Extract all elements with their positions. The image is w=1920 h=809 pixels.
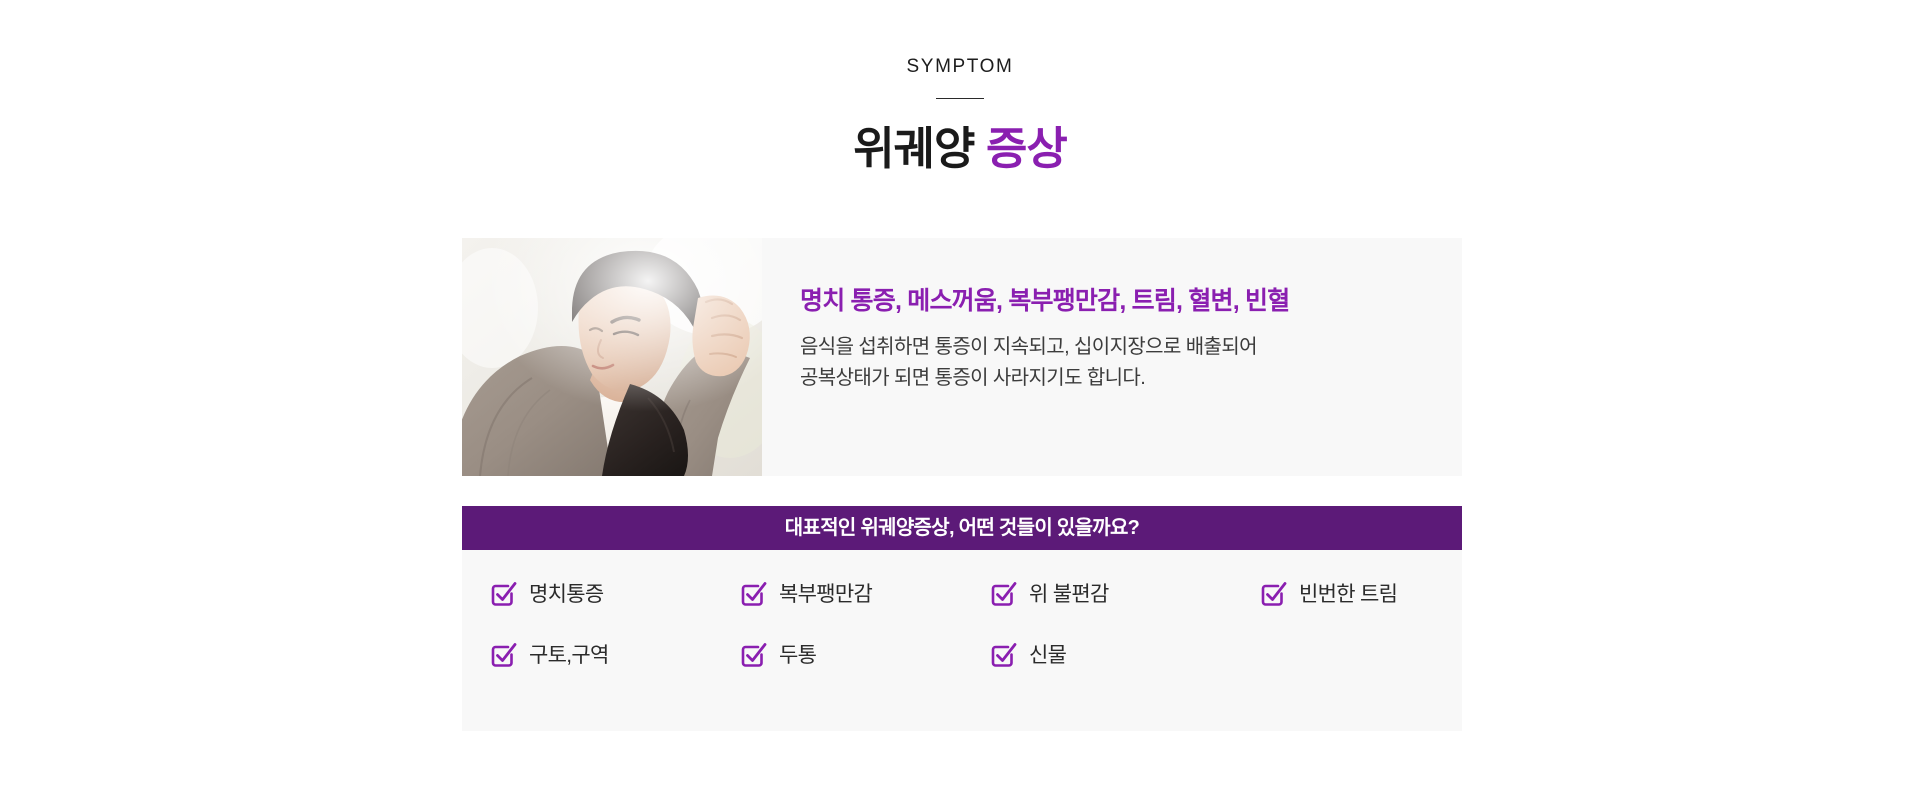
eyebrow-label: SYMPTOM bbox=[0, 54, 1920, 80]
checklist-item-label: 위 불편감 bbox=[1029, 580, 1109, 610]
checkbox-checked-icon bbox=[1258, 579, 1288, 609]
checklist-item[interactable]: 위 불편감 bbox=[988, 577, 1258, 613]
page-title-primary: 위궤양 bbox=[853, 123, 974, 174]
checklist-item[interactable]: 빈번한 트림 bbox=[1258, 577, 1488, 613]
symptom-headline: 명치 통증, 메스꺼움, 복부팽만감, 트림, 혈변, 빈혈 bbox=[800, 284, 1462, 318]
patient-photo-illustration bbox=[462, 238, 762, 476]
patient-photo bbox=[462, 238, 762, 476]
eyebrow-divider bbox=[936, 98, 984, 99]
checklist-item-label: 신물 bbox=[1029, 641, 1066, 671]
page-title-accent: 증상 bbox=[986, 123, 1067, 174]
checkbox-checked-icon bbox=[738, 640, 768, 670]
symptom-description: 음식을 섭취하면 통증이 지속되고, 십이지장으로 배출되어 공복상태가 되면 … bbox=[800, 332, 1462, 394]
checkbox-checked-icon bbox=[988, 640, 1018, 670]
symptom-page: SYMPTOM 위궤양 증상 bbox=[0, 0, 1920, 809]
checklist-grid: 명치통증 복부팽만감 위 불편감 bbox=[462, 577, 1462, 674]
symptom-info-card: 명치 통증, 메스꺼움, 복부팽만감, 트림, 혈변, 빈혈 음식을 섭취하면 … bbox=[462, 238, 1462, 476]
checkbox-checked-icon bbox=[488, 579, 518, 609]
checklist-item-label: 구토,구역 bbox=[529, 641, 609, 671]
checklist-item-label: 복부팽만감 bbox=[779, 580, 872, 610]
checkbox-checked-icon bbox=[988, 579, 1018, 609]
checklist-item[interactable]: 복부팽만감 bbox=[738, 577, 988, 613]
checklist-item-label: 두통 bbox=[779, 641, 816, 671]
page-header: SYMPTOM 위궤양 증상 bbox=[0, 54, 1920, 177]
checklist-item-label: 명치통증 bbox=[529, 580, 603, 610]
checkbox-checked-icon bbox=[488, 640, 518, 670]
checklist-banner: 대표적인 위궤양증상, 어떤 것들이 있을까요? bbox=[462, 506, 1462, 550]
symptom-text-block: 명치 통증, 메스꺼움, 복부팽만감, 트림, 혈변, 빈혈 음식을 섭취하면 … bbox=[762, 238, 1462, 476]
page-title: 위궤양 증상 bbox=[0, 121, 1920, 177]
checklist-banner-text: 대표적인 위궤양증상, 어떤 것들이 있을까요? bbox=[785, 506, 1139, 550]
symptom-checklist-card: 명치통증 복부팽만감 위 불편감 bbox=[462, 550, 1462, 731]
checklist-item[interactable]: 명치통증 bbox=[488, 577, 738, 613]
checklist-item[interactable]: 신물 bbox=[988, 638, 1258, 674]
checklist-item[interactable]: 두통 bbox=[738, 638, 988, 674]
checklist-item-label: 빈번한 트림 bbox=[1299, 580, 1397, 610]
checkbox-checked-icon bbox=[738, 579, 768, 609]
checklist-item[interactable]: 구토,구역 bbox=[488, 638, 738, 674]
